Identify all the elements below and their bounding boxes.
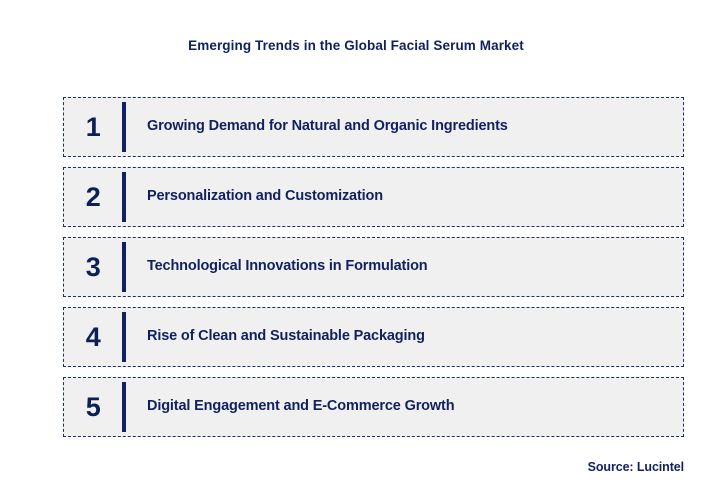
trend-divider — [122, 378, 134, 436]
trend-label-cell: Rise of Clean and Sustainable Packaging — [134, 308, 683, 366]
trend-label-text: Personalization and Customization — [147, 188, 383, 205]
trend-rank: 5 — [64, 378, 122, 436]
trend-divider — [122, 98, 134, 156]
trend-divider — [122, 238, 134, 296]
trend-rank: 3 — [64, 238, 122, 296]
trend-label-cell: Growing Demand for Natural and Organic I… — [134, 98, 683, 156]
trend-label-text: Digital Engagement and E-Commerce Growth — [147, 398, 454, 415]
vertical-bar-icon — [122, 312, 126, 362]
trend-label-cell: Technological Innovations in Formulation — [134, 238, 683, 296]
trend-row[interactable]: 1 Growing Demand for Natural and Organic… — [63, 97, 684, 157]
page-title: Emerging Trends in the Global Facial Ser… — [0, 38, 712, 54]
trend-row[interactable]: 3 Technological Innovations in Formulati… — [63, 237, 684, 297]
trend-list: 1 Growing Demand for Natural and Organic… — [63, 97, 684, 437]
vertical-bar-icon — [122, 242, 126, 292]
trend-row[interactable]: 2 Personalization and Customization — [63, 167, 684, 227]
trend-row[interactable]: 4 Rise of Clean and Sustainable Packagin… — [63, 307, 684, 367]
trend-label-text: Technological Innovations in Formulation — [147, 258, 428, 275]
trend-label-cell: Digital Engagement and E-Commerce Growth — [134, 378, 683, 436]
trend-rank-number: 5 — [86, 394, 101, 421]
vertical-bar-icon — [122, 172, 126, 222]
trend-divider — [122, 308, 134, 366]
page-title-text: Emerging Trends in the Global Facial Ser… — [0, 38, 712, 54]
trend-rank-number: 4 — [86, 324, 101, 351]
vertical-bar-icon — [122, 102, 126, 152]
infographic-root: Emerging Trends in the Global Facial Ser… — [0, 0, 712, 501]
source-text: Source: Lucintel — [588, 460, 684, 474]
trend-rank: 2 — [64, 168, 122, 226]
source-attribution: Source: Lucintel — [0, 458, 684, 476]
trend-rank-number: 2 — [86, 184, 101, 211]
trend-rank: 1 — [64, 98, 122, 156]
trend-label-text: Growing Demand for Natural and Organic I… — [147, 118, 508, 135]
trend-label-text: Rise of Clean and Sustainable Packaging — [147, 328, 425, 345]
trend-row[interactable]: 5 Digital Engagement and E-Commerce Grow… — [63, 377, 684, 437]
trend-rank: 4 — [64, 308, 122, 366]
vertical-bar-icon — [122, 382, 126, 432]
trend-rank-number: 3 — [86, 254, 101, 281]
trend-divider — [122, 168, 134, 226]
trend-rank-number: 1 — [86, 114, 101, 141]
trend-label-cell: Personalization and Customization — [134, 168, 683, 226]
